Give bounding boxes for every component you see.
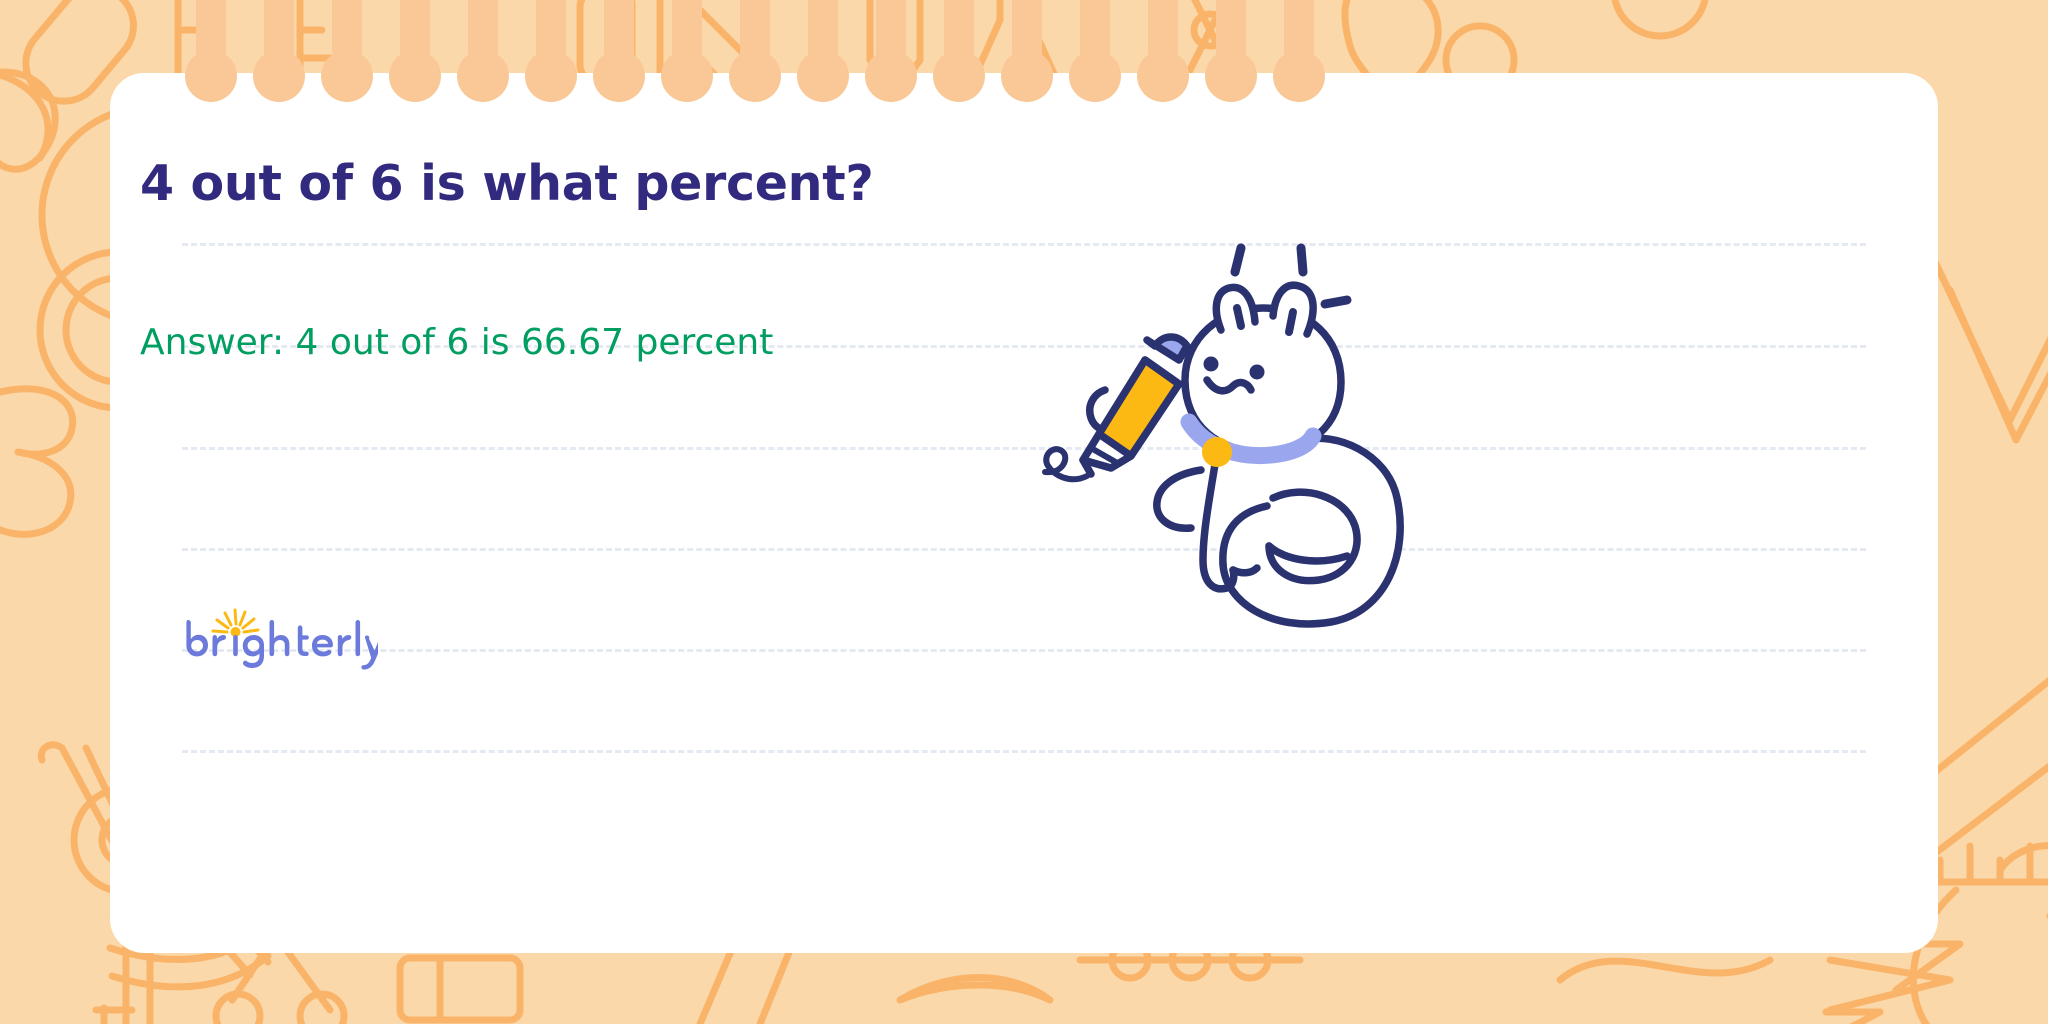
- rule-line: [182, 243, 1866, 246]
- excitement-mark: [1325, 300, 1347, 304]
- excitement-mark: [1235, 248, 1241, 272]
- rule-line: [182, 750, 1866, 753]
- brighterly-logo[interactable]: [178, 608, 378, 678]
- question-title: 4 out of 6 is what percent?: [140, 155, 873, 212]
- excitement-mark: [1301, 248, 1303, 272]
- collar-tag: [1202, 437, 1232, 467]
- rule-line: [182, 447, 1866, 450]
- bunny-mascot-illustration: [1035, 230, 1435, 630]
- rule-line: [182, 649, 1866, 652]
- logo-wordmark: [186, 620, 378, 670]
- bunny-arm: [1157, 470, 1201, 528]
- pencil-scribble: [1045, 449, 1087, 479]
- bunny-body: [1223, 438, 1400, 624]
- rule-line: [182, 548, 1866, 551]
- answer-text: Answer: 4 out of 6 is 66.67 percent: [140, 322, 773, 363]
- bunny-eye-left: [1204, 357, 1219, 372]
- bunny-eye-right: [1250, 365, 1265, 380]
